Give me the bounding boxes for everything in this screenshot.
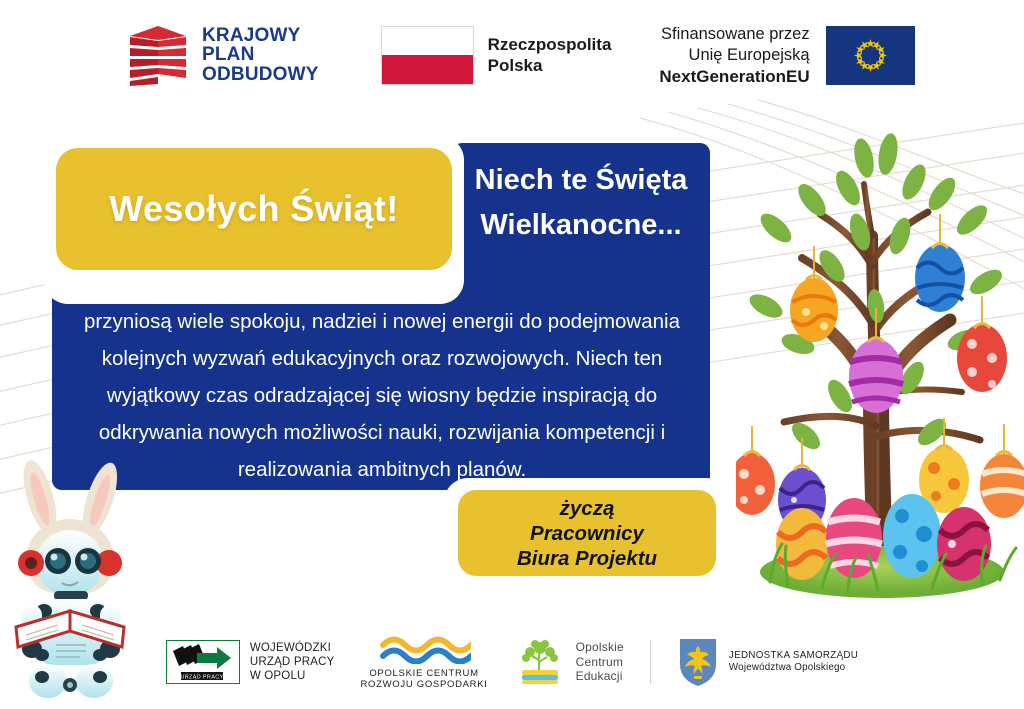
eu-funding-text: Sfinansowane przez Unię Europejską NextG… bbox=[659, 24, 809, 87]
eu-line-3: NextGenerationEU bbox=[659, 66, 809, 87]
eu-line-2: Unię Europejską bbox=[659, 45, 809, 66]
easter-greeting-card: KRAJOWY PLAN ODBUDOWY Rzeczpospolita Pol… bbox=[0, 0, 1024, 709]
poland-flag-icon bbox=[381, 26, 474, 85]
kpo-line-1: KRAJOWY bbox=[202, 26, 319, 46]
signature-chip: życzą Pracownicy Biura Projektu bbox=[458, 490, 716, 576]
footer-logo-samorzad: JEDNOSTKA SAMORZĄDU Województwa Opolskie… bbox=[677, 636, 858, 688]
samorzad-line-1: JEDNOSTKA SAMORZĄDU bbox=[729, 650, 858, 662]
footer-divider bbox=[650, 640, 651, 684]
wup-line-3: W OPOLU bbox=[250, 669, 335, 683]
eu-line-1: Sfinansowane przez bbox=[659, 24, 809, 45]
kpo-logo-text: KRAJOWY PLAN ODBUDOWY bbox=[202, 26, 319, 85]
kpo-logo-block: KRAJOWY PLAN ODBUDOWY bbox=[128, 24, 319, 86]
signature-line-2: Pracownicy bbox=[530, 521, 644, 546]
greeting-chip-label: Wesołych Świąt! bbox=[109, 188, 398, 230]
hanging-egg-red bbox=[957, 296, 1007, 392]
footer-logo-ocrg-text: OPOLSKIE CENTRUM ROZWOJU GOSPODARKI bbox=[360, 668, 487, 691]
footer-logo-wup-text: WOJEWÓDZKI URZĄD PRACY W OPOLU bbox=[250, 641, 335, 683]
easter-egg-tree-illustration bbox=[736, 96, 1024, 608]
kpo-stacked-bars-icon bbox=[128, 24, 188, 86]
kpo-line-3: ODBUDOWY bbox=[202, 65, 319, 85]
eu-funding-block: Sfinansowane przez Unię Europejską NextG… bbox=[659, 24, 914, 87]
poland-logo-block: Rzeczpospolita Polska bbox=[381, 26, 612, 85]
wup-line-2: URZĄD PRACY bbox=[250, 655, 335, 669]
oce-line-1: Opolskie bbox=[576, 640, 624, 655]
funding-logo-header: KRAJOWY PLAN ODBUDOWY Rzeczpospolita Pol… bbox=[0, 0, 1024, 110]
kpo-line-2: PLAN bbox=[202, 45, 319, 65]
greeting-body: przyniosą wiele spokoju, nadziei i nowej… bbox=[62, 303, 702, 488]
poland-logo-text: Rzeczpospolita Polska bbox=[488, 34, 612, 76]
wup-badge-text: URZĄD PRACY bbox=[180, 675, 223, 681]
ocrg-waves-icon bbox=[377, 634, 471, 664]
eu-flag-icon bbox=[826, 26, 915, 85]
footer-logo-wup: URZĄD PRACY WOJEWÓDZKI URZĄD PRACY W OPO… bbox=[166, 640, 335, 684]
oce-line-3: Edukacji bbox=[576, 669, 624, 684]
wup-line-1: WOJEWÓDZKI bbox=[250, 641, 335, 655]
footer-logo-samorzad-text: JEDNOSTKA SAMORZĄDU Województwa Opolskie… bbox=[729, 650, 858, 674]
ocrg-line-1: OPOLSKIE CENTRUM bbox=[360, 668, 487, 680]
poland-line-1: Rzeczpospolita bbox=[488, 34, 612, 55]
samorzad-line-2: Województwa Opolskiego bbox=[729, 662, 858, 674]
opolskie-centrum-edukacji-tree-icon bbox=[514, 636, 566, 688]
bunny-robot-reading-book-illustration bbox=[0, 459, 146, 709]
hanging-egg-purple bbox=[849, 308, 903, 413]
greeting-chip: Wesołych Świąt! bbox=[56, 148, 452, 270]
hanging-egg-orange-stripes bbox=[980, 424, 1024, 518]
greeting-heading: Niech te Święta Wielkanocne... bbox=[452, 158, 710, 248]
footer-logo-oce: Opolskie Centrum Edukacji bbox=[514, 636, 624, 688]
wup-arrows-icon: URZĄD PRACY bbox=[166, 640, 240, 684]
hanging-egg-orange-dots bbox=[736, 426, 775, 515]
opolskie-eagle-shield-icon bbox=[677, 636, 719, 688]
ocrg-line-2: ROZWOJU GOSPODARKI bbox=[360, 679, 487, 691]
signature-line-1: życzą bbox=[560, 496, 615, 521]
poland-line-2: Polska bbox=[488, 55, 612, 76]
signature-line-3: Biura Projektu bbox=[517, 546, 657, 571]
partner-logos-footer: URZĄD PRACY WOJEWÓDZKI URZĄD PRACY W OPO… bbox=[0, 627, 1024, 697]
oce-line-2: Centrum bbox=[576, 655, 624, 670]
footer-logo-ocrg: OPOLSKIE CENTRUM ROZWOJU GOSPODARKI bbox=[360, 634, 487, 691]
footer-logo-oce-text: Opolskie Centrum Edukacji bbox=[576, 640, 624, 684]
